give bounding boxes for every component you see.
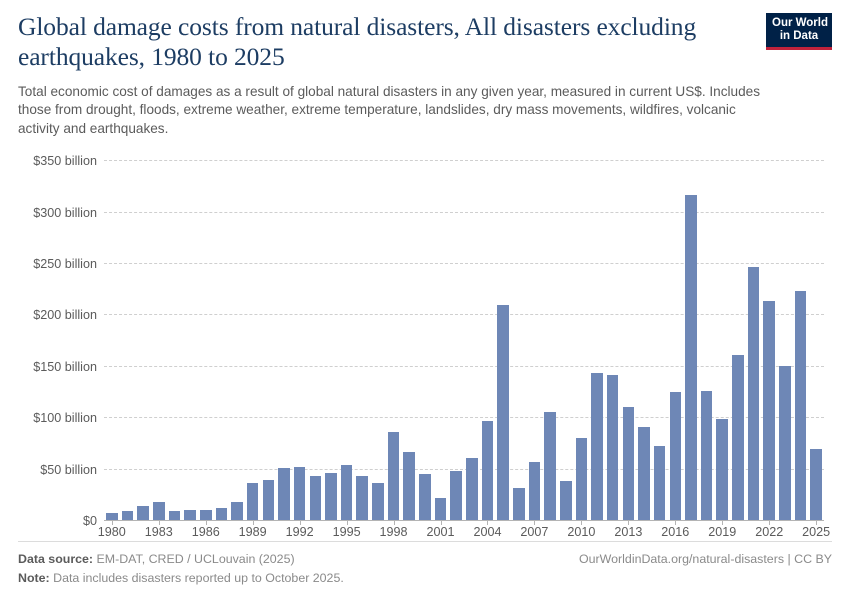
bar[interactable] (216, 508, 228, 520)
bar[interactable] (106, 513, 118, 520)
x-axis-tick-label: 2022 (755, 525, 783, 539)
bar[interactable] (231, 502, 243, 521)
bar[interactable] (654, 446, 666, 520)
bar[interactable] (200, 510, 212, 520)
chart-area: $0$50 billion$100 billion$150 billion$20… (18, 154, 832, 544)
bar[interactable] (263, 480, 275, 520)
x-axis-tick-label: 2016 (661, 525, 689, 539)
y-axis-tick-label: $50 billion (40, 463, 97, 477)
note-label: Note: (18, 571, 50, 585)
bar[interactable] (450, 471, 462, 520)
bar[interactable] (779, 366, 791, 520)
x-axis-tick-label: 2001 (427, 525, 455, 539)
bar[interactable] (560, 481, 572, 520)
y-axis-tick-label: $350 billion (33, 154, 97, 168)
bar[interactable] (763, 301, 775, 520)
y-axis-tick-label: $200 billion (33, 308, 97, 322)
bar[interactable] (294, 467, 306, 520)
bar[interactable] (685, 195, 697, 520)
bar[interactable] (513, 488, 525, 520)
bar[interactable] (544, 412, 556, 520)
note-value: Data includes disasters reported up to O… (53, 571, 344, 585)
x-axis-tick-label: 1986 (192, 525, 220, 539)
bar[interactable] (529, 462, 541, 521)
bar[interactable] (497, 305, 509, 520)
bar[interactable] (403, 452, 415, 520)
chart-page: Global damage costs from natural disaste… (0, 0, 850, 600)
y-axis-tick-label: $100 billion (33, 411, 97, 425)
bar[interactable] (341, 465, 353, 521)
bar[interactable] (607, 375, 619, 520)
chart-footer: Data source: EM-DAT, CRED / UCLouvain (2… (18, 541, 832, 588)
bar[interactable] (137, 506, 149, 520)
bar[interactable] (122, 511, 134, 520)
bar[interactable] (419, 474, 431, 520)
bar[interactable] (169, 511, 181, 520)
bar[interactable] (388, 432, 400, 520)
y-axis-tick-label: $300 billion (33, 206, 97, 220)
x-axis-tick-label: 1980 (98, 525, 126, 539)
bar[interactable] (356, 476, 368, 520)
x-axis-tick-label: 2007 (520, 525, 548, 539)
bar[interactable] (591, 373, 603, 520)
y-axis-tick-label: $250 billion (33, 257, 97, 271)
x-axis-tick-label: 1992 (286, 525, 314, 539)
x-axis-tick-label: 2019 (708, 525, 736, 539)
bar[interactable] (325, 473, 337, 520)
x-axis-tick-label: 2010 (567, 525, 595, 539)
bar[interactable] (278, 468, 290, 520)
logo-line-2: in Data (772, 30, 826, 43)
bar[interactable] (482, 421, 494, 520)
bar[interactable] (623, 407, 635, 520)
bar[interactable] (670, 392, 682, 521)
bar[interactable] (184, 510, 196, 520)
logo-line-1: Our World (772, 17, 826, 30)
bar[interactable] (247, 483, 259, 520)
chart-header: Global damage costs from natural disaste… (18, 0, 832, 138)
plot-region: $0$50 billion$100 billion$150 billion$20… (104, 160, 824, 520)
attribution-link[interactable]: OurWorldinData.org/natural-disasters | C… (579, 550, 832, 569)
x-axis-tick-label: 1995 (333, 525, 361, 539)
bar[interactable] (748, 267, 760, 520)
bar[interactable] (716, 419, 728, 520)
bar[interactable] (576, 438, 588, 520)
bar[interactable] (153, 502, 165, 521)
x-axis-tick-label: 2004 (473, 525, 501, 539)
source-label: Data source: (18, 552, 93, 566)
our-world-in-data-logo[interactable]: Our World in Data (766, 13, 832, 50)
y-axis-tick-label: $150 billion (33, 360, 97, 374)
y-axis-tick-label: $0 (83, 514, 97, 528)
x-axis-tick-label: 2013 (614, 525, 642, 539)
bar[interactable] (310, 476, 322, 520)
chart-subtitle: Total economic cost of damages as a resu… (18, 83, 778, 138)
bar[interactable] (795, 291, 807, 520)
bar[interactable] (732, 355, 744, 521)
bar[interactable] (701, 391, 713, 521)
bar[interactable] (372, 483, 384, 520)
bar[interactable] (435, 498, 447, 521)
bar[interactable] (638, 427, 650, 521)
x-axis-tick-label: 1989 (239, 525, 267, 539)
source-value: EM-DAT, CRED / UCLouvain (2025) (97, 552, 295, 566)
page-title: Global damage costs from natural disaste… (18, 12, 718, 73)
bar[interactable] (466, 458, 478, 520)
bar-series (104, 160, 824, 520)
bar[interactable] (810, 449, 822, 520)
footer-source-row: Data source: EM-DAT, CRED / UCLouvain (2… (18, 550, 832, 569)
x-axis-tick-label: 2025 (802, 525, 830, 539)
x-axis-tick-label: 1983 (145, 525, 173, 539)
x-axis-tick-label: 1998 (380, 525, 408, 539)
footer-note-row: Note: Data includes disasters reported u… (18, 569, 832, 588)
